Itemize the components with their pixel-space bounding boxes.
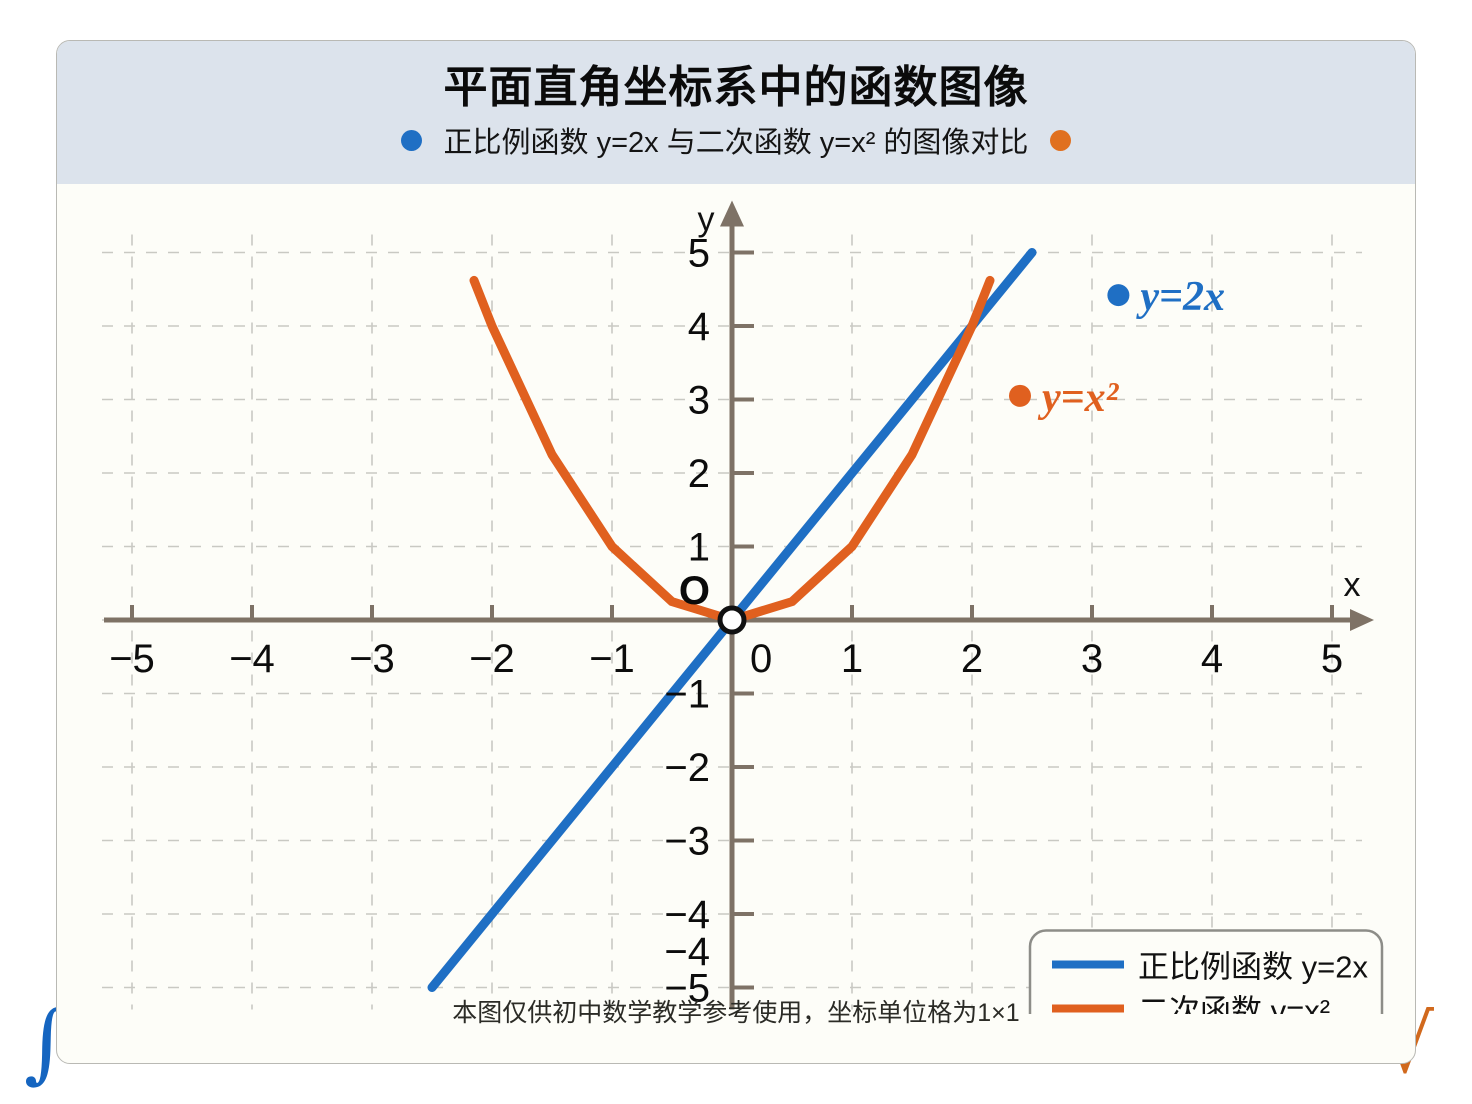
linear-annotation: y=2x — [1135, 274, 1225, 320]
page-subtitle: 正比例函数 y=2x 与二次函数 y=x² 的图像对比 — [444, 119, 1029, 161]
x-tick-label: 0 — [750, 637, 772, 681]
x-tick-label: 3 — [1081, 637, 1103, 681]
footer-note: 本图仅供初中数学教学参考使用，坐标单位格为1×1 — [57, 993, 1415, 1029]
subtitle-row: 正比例函数 y=2x 与二次函数 y=x² 的图像对比 — [57, 119, 1415, 161]
y-tick-label: 3 — [688, 379, 710, 423]
page-title: 平面直角坐标系中的函数图像 — [57, 51, 1415, 115]
origin-marker — [720, 608, 744, 632]
y-tick-label: 2 — [688, 452, 710, 496]
x-tick-label: −1 — [589, 637, 635, 681]
x-tick-label: 1 — [841, 637, 863, 681]
x-tick-label: −5 — [109, 637, 155, 681]
blue-dot-icon — [401, 130, 422, 151]
plot-area: xy −5−4−3−2−101234554321−1−2−3−4−4−5O y=… — [57, 184, 1416, 1014]
quadratic-annotation: y=x² — [1037, 375, 1120, 421]
x-tick-label: −2 — [469, 637, 515, 681]
x-tick-label: −3 — [349, 637, 395, 681]
x-axis-label: x — [1344, 566, 1361, 604]
linear-dot-icon — [1107, 284, 1129, 306]
chart-header: 平面直角坐标系中的函数图像 正比例函数 y=2x 与二次函数 y=x² 的图像对… — [57, 41, 1415, 184]
x-tick-label: −4 — [229, 637, 275, 681]
orange-dot-icon — [1050, 130, 1071, 151]
legend-item-label[interactable]: 正比例函数 y=2x — [1138, 950, 1368, 985]
quadratic-dot-icon — [1009, 385, 1031, 407]
coordinate-plane-svg: xy −5−4−3−2−101234554321−1−2−3−4−4−5O y=… — [57, 184, 1416, 1014]
y-tick-label: 5 — [688, 232, 710, 276]
origin-label: O — [679, 569, 710, 613]
x-tick-label: 4 — [1201, 637, 1223, 681]
y-tick-label: −1 — [664, 673, 710, 717]
y-tick-label: −2 — [664, 746, 710, 790]
curve-annotations: y=2xy=x² — [1009, 274, 1225, 421]
x-tick-label: 2 — [961, 637, 983, 681]
y-tick-label: −3 — [664, 820, 710, 864]
y-tick-label: 1 — [688, 526, 710, 570]
chart-card: 平面直角坐标系中的函数图像 正比例函数 y=2x 与二次函数 y=x² 的图像对… — [56, 40, 1416, 1064]
x-tick-label: 5 — [1321, 637, 1343, 681]
y-tick-label: 4 — [688, 305, 710, 349]
